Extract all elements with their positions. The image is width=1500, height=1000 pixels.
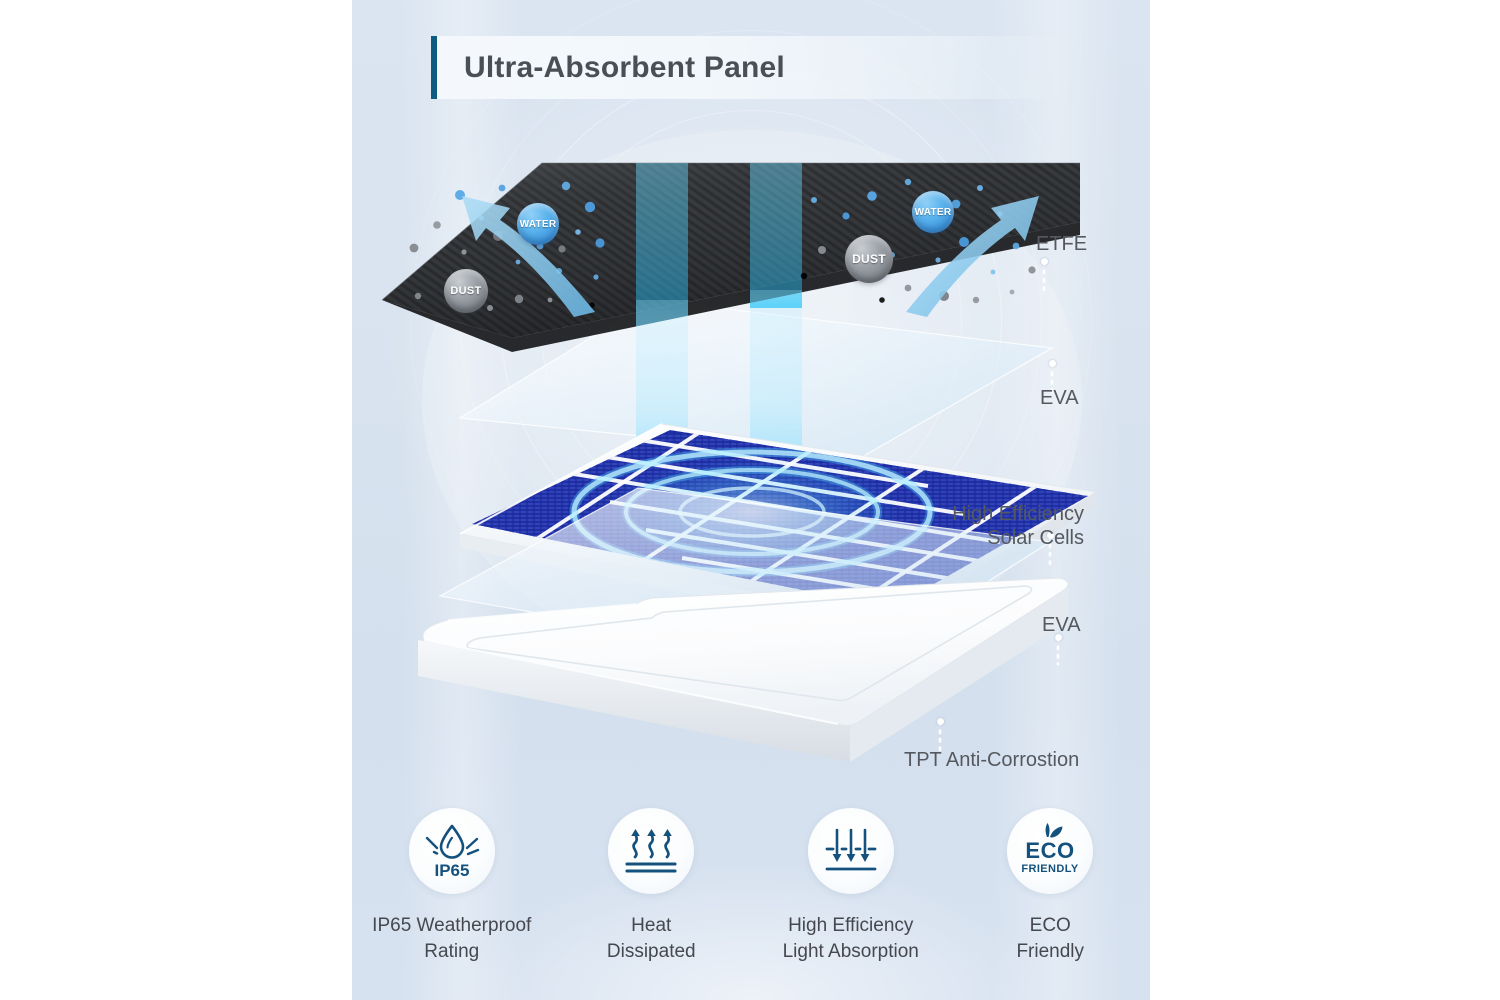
feature-ip65-label-line2: Rating bbox=[372, 939, 531, 965]
layer-label-etfe: ETFE bbox=[1036, 232, 1087, 256]
feature-eco: ECO FRIENDLY ECO Friendly bbox=[951, 808, 1151, 965]
feature-row: IP65 IP65 Weatherproof Rating bbox=[352, 808, 1150, 965]
badge-dust-left: DUST bbox=[444, 269, 488, 313]
layer-label-eva-top: EVA bbox=[1040, 386, 1079, 410]
badge-dust-right: DUST bbox=[845, 235, 893, 283]
feature-eco-label-line2: Friendly bbox=[1016, 939, 1084, 965]
layer-label-solar-cells-line1: High Efficiency bbox=[800, 502, 1084, 526]
feature-eco-sub-text: FRIENDLY bbox=[1022, 863, 1079, 875]
screenshot-root: Ultra-Absorbent Panel bbox=[0, 0, 1500, 1000]
light-absorption-icon bbox=[822, 824, 880, 878]
feature-heat: Heat Dissipated bbox=[552, 808, 752, 965]
feature-ip65-badge-text: IP65 bbox=[434, 861, 469, 880]
feature-ip65-icon-circle: IP65 bbox=[409, 808, 495, 894]
leader-dots-etfe bbox=[1042, 258, 1047, 265]
water-drop-ip65-icon: IP65 bbox=[421, 821, 483, 881]
leader-dots-tpt bbox=[938, 718, 943, 725]
feature-heat-label: Heat Dissipated bbox=[607, 913, 696, 965]
eco-leaf-icon: ECO FRIENDLY bbox=[1019, 822, 1081, 880]
feature-absorption-icon-circle bbox=[808, 808, 894, 894]
feature-eco-label-line1: ECO bbox=[1016, 913, 1084, 939]
feature-absorption-label-line2: Light Absorption bbox=[783, 939, 919, 965]
feature-eco-badge-text: ECO bbox=[1026, 838, 1075, 863]
feature-heat-icon-circle bbox=[608, 808, 694, 894]
feature-absorption-label-line1: High Efficiency bbox=[783, 913, 919, 939]
layer-label-solar-cells: High Efficiency Solar Cells bbox=[800, 502, 1084, 550]
feature-ip65-label-line1: IP65 Weatherproof bbox=[372, 913, 531, 939]
infographic-canvas: Ultra-Absorbent Panel bbox=[352, 0, 1150, 1000]
feature-absorption-label: High Efficiency Light Absorption bbox=[783, 913, 919, 965]
feature-heat-label-line2: Dissipated bbox=[607, 939, 696, 965]
layer-label-eva-bottom: EVA bbox=[1042, 613, 1081, 637]
badge-water-left: WATER bbox=[517, 203, 559, 245]
feature-ip65-label: IP65 Weatherproof Rating bbox=[372, 913, 531, 965]
feature-ip65: IP65 IP65 Weatherproof Rating bbox=[352, 808, 552, 965]
layer-label-solar-cells-line2: Solar Cells bbox=[800, 526, 1084, 550]
layer-label-tpt: TPT Anti-Corrostion bbox=[904, 748, 1079, 772]
badge-water-right: WATER bbox=[912, 191, 954, 233]
feature-heat-label-line1: Heat bbox=[607, 913, 696, 939]
leader-dots-eva-top bbox=[1050, 360, 1055, 367]
feature-eco-label: ECO Friendly bbox=[1016, 913, 1084, 965]
heat-dissipation-icon bbox=[622, 824, 680, 878]
feature-absorption: High Efficiency Light Absorption bbox=[751, 808, 951, 965]
feature-eco-icon-circle: ECO FRIENDLY bbox=[1007, 808, 1093, 894]
